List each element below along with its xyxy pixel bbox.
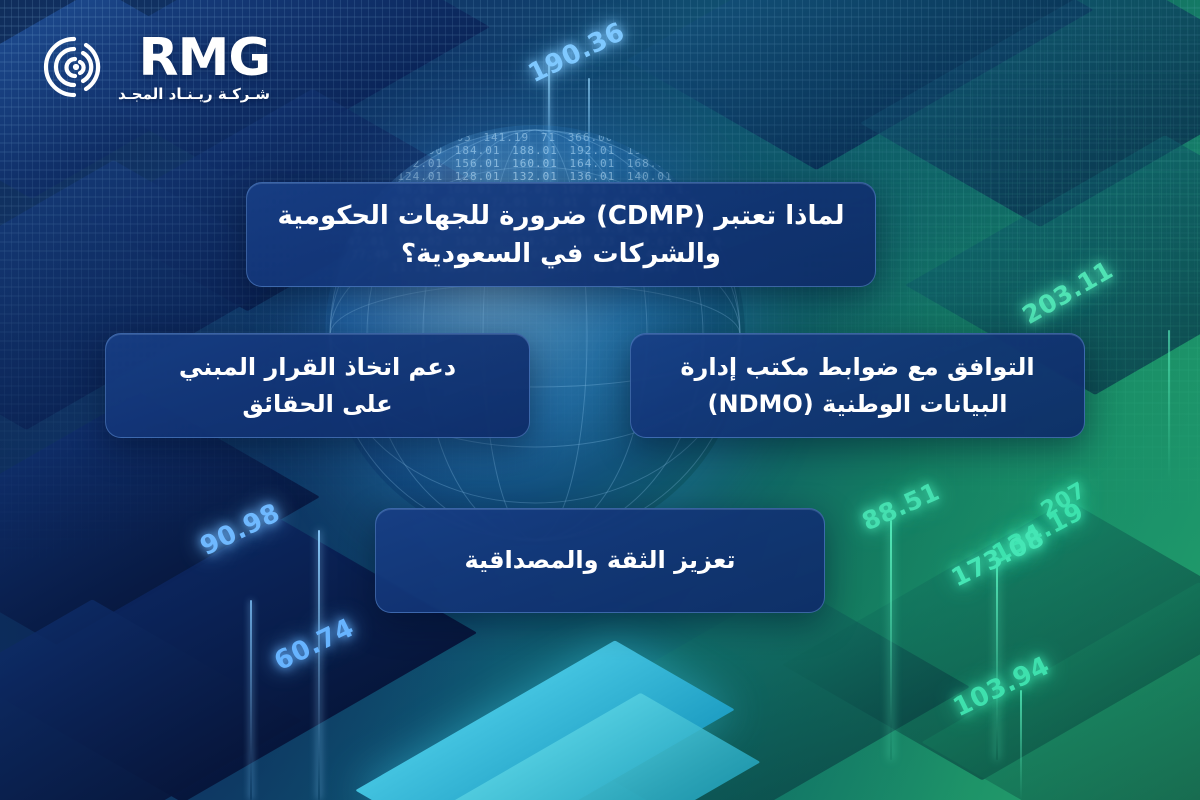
brand-logo[interactable]: RMG شـركـة ريـنـاد المجـد <box>42 32 270 102</box>
headline-card: لماذا تعتبر (CDMP) ضرورة للجهات الحكومية… <box>246 182 876 287</box>
logo-wordmark: RMG <box>139 32 270 84</box>
logo-subtitle: شـركـة ريـنـاد المجـد <box>118 87 270 102</box>
benefit-line-1: دعم اتخاذ القرار المبني <box>179 349 456 386</box>
benefit-card-trust-credibility[interactable]: تعزيز الثقة والمصداقية <box>375 508 825 613</box>
benefit-card-fact-based-decisions[interactable]: دعم اتخاذ القرار المبني على الحقائق <box>105 333 530 438</box>
benefit-line-1: التوافق مع ضوابط مكتب إدارة <box>680 349 1034 386</box>
benefit-line-2: على الحقائق <box>179 386 456 423</box>
rmg-spiral-icon <box>42 35 106 99</box>
headline-line-2: والشركات في السعودية؟ <box>278 235 845 273</box>
headline-line-1: لماذا تعتبر (CDMP) ضرورة للجهات الحكومية <box>278 197 845 235</box>
benefit-line-1: تعزيز الثقة والمصداقية <box>464 542 735 579</box>
benefit-card-ndmo-compliance[interactable]: التوافق مع ضوابط مكتب إدارة البيانات الو… <box>630 333 1085 438</box>
benefit-line-2: البيانات الوطنية (NDMO) <box>680 386 1034 423</box>
infographic-canvas: 180.01 873.34 366.00 71 141.19 03 220.01… <box>0 0 1200 800</box>
